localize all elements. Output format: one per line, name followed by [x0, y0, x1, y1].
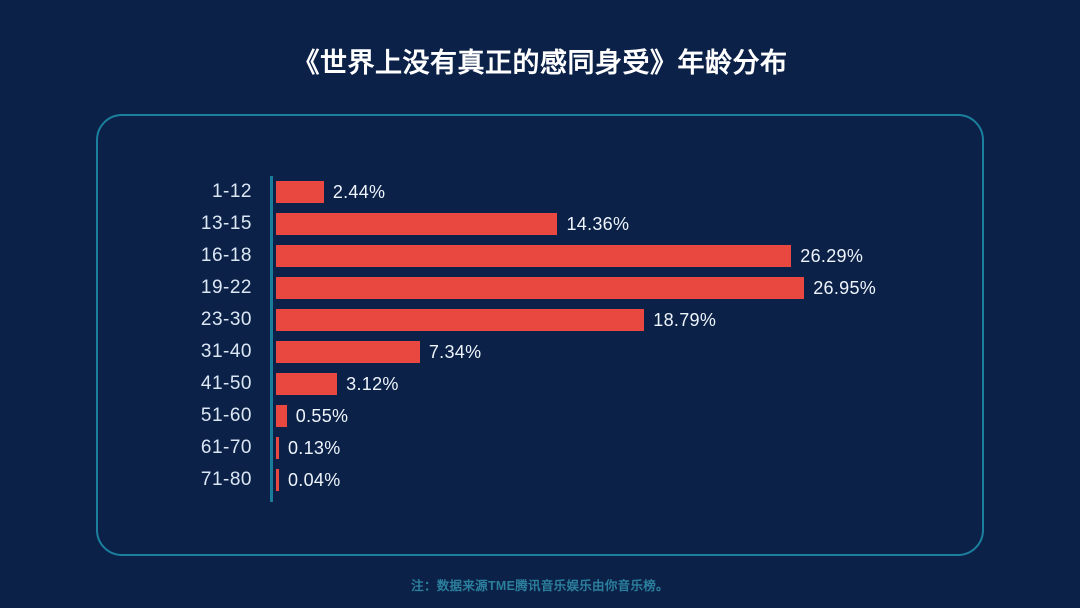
category-label: 61-70: [96, 432, 252, 464]
bar-value-label: 18.79%: [653, 310, 716, 331]
bar-track: 2.44%: [276, 176, 385, 208]
bar: [276, 277, 804, 299]
bar: [276, 469, 279, 491]
category-label: 1-12: [96, 176, 252, 208]
bar-row: 23-3018.79%: [96, 304, 984, 336]
bar-track: 7.34%: [276, 336, 481, 368]
category-label: 23-30: [96, 304, 252, 336]
bar: [276, 437, 279, 459]
bar-row: 16-1826.29%: [96, 240, 984, 272]
chart-plot-area: 1-122.44%13-1514.36%16-1826.29%19-2226.9…: [96, 114, 984, 556]
bar-track: 0.04%: [276, 464, 341, 496]
bar: [276, 341, 420, 363]
bar-row: 51-600.55%: [96, 400, 984, 432]
bar-value-label: 7.34%: [429, 342, 482, 363]
category-label: 31-40: [96, 336, 252, 368]
source-note: 注：数据来源TME腾讯音乐娱乐由你音乐榜。: [0, 575, 1080, 594]
bar-track: 26.95%: [276, 272, 876, 304]
bar-row: 1-122.44%: [96, 176, 984, 208]
bar: [276, 373, 337, 395]
category-label: 19-22: [96, 272, 252, 304]
bar-row: 61-700.13%: [96, 432, 984, 464]
bar-row: 13-1514.36%: [96, 208, 984, 240]
category-label: 51-60: [96, 400, 252, 432]
category-label: 13-15: [96, 208, 252, 240]
bar-value-label: 0.04%: [288, 470, 341, 491]
bar-value-label: 14.36%: [566, 214, 629, 235]
bar-rows: 1-122.44%13-1514.36%16-1826.29%19-2226.9…: [96, 176, 984, 496]
category-label: 71-80: [96, 464, 252, 496]
bar-track: 0.55%: [276, 400, 348, 432]
bar-row: 41-503.12%: [96, 368, 984, 400]
page-title: 《世界上没有真正的感同身受》年龄分布: [0, 45, 1080, 81]
bar-track: 0.13%: [276, 432, 341, 464]
bar-value-label: 0.55%: [296, 406, 349, 427]
bar: [276, 405, 287, 427]
bar: [276, 213, 557, 235]
bar-value-label: 0.13%: [288, 438, 341, 459]
bar: [276, 181, 324, 203]
bar-track: 26.29%: [276, 240, 863, 272]
bar-track: 14.36%: [276, 208, 629, 240]
bar-row: 31-407.34%: [96, 336, 984, 368]
bar-value-label: 2.44%: [333, 182, 386, 203]
chart-page: { "title": "《世界上没有真正的感同身受》年龄分布", "footer…: [0, 0, 1080, 608]
bar-value-label: 26.95%: [813, 278, 876, 299]
bar-row: 71-800.04%: [96, 464, 984, 496]
bar-track: 18.79%: [276, 304, 716, 336]
bar-row: 19-2226.95%: [96, 272, 984, 304]
bar-value-label: 3.12%: [346, 374, 399, 395]
category-label: 41-50: [96, 368, 252, 400]
bar: [276, 309, 644, 331]
category-label: 16-18: [96, 240, 252, 272]
bar-value-label: 26.29%: [800, 246, 863, 267]
bar: [276, 245, 791, 267]
bar-track: 3.12%: [276, 368, 399, 400]
